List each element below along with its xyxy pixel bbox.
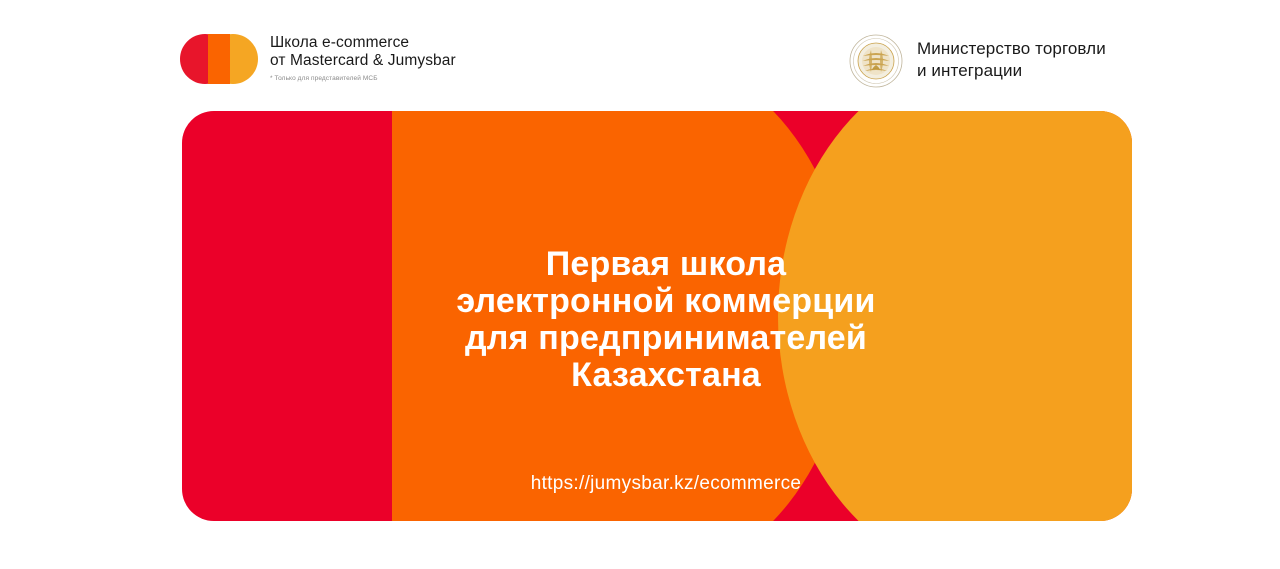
mastercard-overlap-shape (208, 34, 230, 84)
ministry-line-2: и интеграции (917, 60, 1106, 82)
brand-lockup-ministry: Министерство торговли и интеграции (849, 34, 1106, 88)
banner-headline-line-1: Первая школа (200, 246, 1132, 283)
banner-headline: Первая школа электронной коммерции для п… (182, 246, 1132, 394)
banner-headline-line-4: Казахстана (200, 357, 1132, 394)
brand-left-text: Школа e-commerce от Mastercard & Jumysba… (270, 33, 456, 83)
page-header: Школа e-commerce от Mastercard & Jumysba… (0, 0, 1280, 111)
promo-banner: Первая школа электронной коммерции для п… (182, 111, 1132, 521)
brand-right-text: Министерство торговли и интеграции (917, 34, 1106, 82)
brand-lockup-school: Школа e-commerce от Mastercard & Jumysba… (180, 33, 456, 84)
ministry-line-1: Министерство торговли (917, 38, 1106, 60)
banner-headline-line-2: электронной коммерции (200, 283, 1132, 320)
mastercard-circles-icon (180, 34, 258, 84)
brand-left-line-1: Школа e-commerce (270, 34, 456, 52)
banner-url-link[interactable]: https://jumysbar.kz/ecommerce (182, 473, 1132, 495)
brand-left-line-2: от Mastercard & Jumysbar (270, 52, 456, 70)
ministry-emblem-icon (849, 34, 903, 88)
banner-content: Первая школа электронной коммерции для п… (182, 111, 1132, 521)
banner-headline-line-3: для предпринимателей (200, 320, 1132, 357)
brand-left-disclaimer: * Только для представителей МСБ (270, 74, 456, 83)
